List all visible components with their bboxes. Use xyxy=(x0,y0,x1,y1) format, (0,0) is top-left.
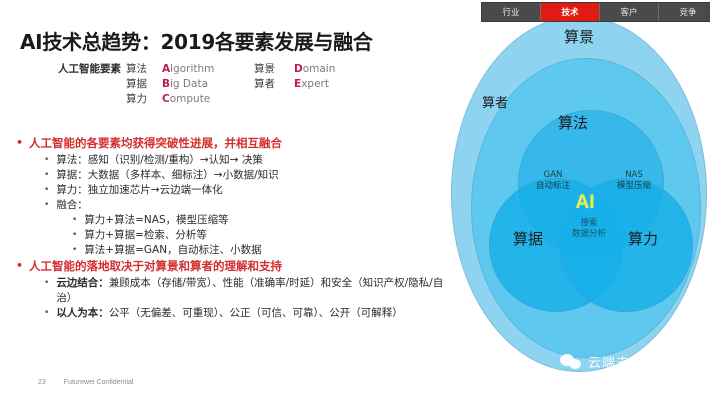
element-en-rest-2: ompute xyxy=(170,93,211,105)
element-en2-0: Domain xyxy=(294,62,374,77)
watermark: 云端未来 xyxy=(560,352,644,371)
bullet-dot-icon: • xyxy=(44,276,49,291)
elements-col-en2: Domain Expert xyxy=(294,62,374,107)
venn-label-power: 算力 xyxy=(628,228,658,249)
bullet-dot-icon: • xyxy=(72,228,77,243)
element-en2-1: Expert xyxy=(294,77,374,92)
element-en2-rest-0: omain xyxy=(303,63,336,75)
bullet-level2-text-1: 算据：大数据（多样本、细标注）→小数据/知识 xyxy=(56,168,278,183)
bullet-level2-text-3: 融合： xyxy=(56,198,88,213)
bullet-dot-icon: • xyxy=(44,198,49,213)
venn-overlap-bottom-line2: 数据分析 xyxy=(560,229,618,240)
elements-col-cn: 算法 算据 算力 xyxy=(126,62,162,107)
element-en-2: Compute xyxy=(162,92,254,107)
bullet-level3-item: • 算力+算法=NAS，模型压缩等 xyxy=(72,213,456,228)
element-en-rest-0: lgorithm xyxy=(170,63,214,75)
left-content-pane: AI技术总趋势：2019各要素发展与融合 人工智能要素 算法 算据 算力 Alg… xyxy=(0,0,460,400)
bullet-dot-icon: • xyxy=(16,135,23,151)
page-number: 23 xyxy=(38,379,46,386)
element-en-cap-1: B xyxy=(162,78,170,90)
venn-overlap-bottom-line1: 搜索 xyxy=(560,218,618,229)
page-title: AI技术总趋势：2019各要素发展与融合 xyxy=(20,26,373,55)
wechat-icon xyxy=(560,354,582,370)
bullet-level2-b-1-label: 以人为本： xyxy=(56,307,109,319)
bullet-dot-icon: • xyxy=(16,258,23,274)
element-en2-rest-1: xpert xyxy=(301,78,329,90)
venn-overlap-bottom: 搜索 数据分析 xyxy=(560,218,618,240)
bullet-level3-text-0: 算力+算法=NAS，模型压缩等 xyxy=(84,213,228,228)
slide-canvas: AI技术总趋势：2019各要素发展与融合 人工智能要素 算法 算据 算力 Alg… xyxy=(0,0,710,400)
venn-overlap-nas: NAS 模型压缩 xyxy=(608,170,660,192)
element-en-cap-2: C xyxy=(162,93,170,105)
watermark-text: 云端未来 xyxy=(588,352,644,371)
bullet-dot-icon: • xyxy=(72,213,77,228)
bullet-level2-item: • 云边结合：兼顾成本（存储/带宽）、性能（准确率/时延）和安全（知识产权/隐私… xyxy=(44,276,456,306)
venn-label-scene: 算景 xyxy=(440,26,710,47)
bullet-level2-b-1-text: 公平（无偏差、可重现）、公正（可信、可靠）、公开（可解释） xyxy=(109,307,403,319)
element-cn2-1: 算者 xyxy=(254,77,294,92)
bullet-dot-icon: • xyxy=(44,183,49,198)
venn-overlap-gan-line1: GAN xyxy=(528,170,578,181)
tab-industry[interactable]: 行业 xyxy=(482,3,541,21)
bullet-list: • 人工智能的各要素均获得突破性进展，并相互融合 • 算法：感知（识别/检测/重… xyxy=(16,135,456,321)
tab-technology[interactable]: 技术 xyxy=(541,3,600,21)
element-cn-2: 算力 xyxy=(126,92,162,107)
bullet-dot-icon: • xyxy=(44,153,49,168)
bullet-level2-item: • 算法：感知（识别/检测/重构）→认知→ 决策 xyxy=(44,153,456,168)
element-en-rest-1: ig Data xyxy=(170,78,208,90)
bullet-level2-b-0: 云边结合：兼顾成本（存储/带宽）、性能（准确率/时延）和安全（知识产权/隐私/自… xyxy=(56,276,446,306)
slide-footer: 23 Futurewei Confidential xyxy=(38,379,133,386)
bullet-level2-item: • 以人为本：公平（无偏差、可重现）、公正（可信、可靠）、公开（可解释） xyxy=(44,306,456,321)
ai-elements-table: 人工智能要素 算法 算据 算力 Algorithm Big Data Compu… xyxy=(58,62,374,107)
bullet-level2-text-2: 算力：独立加速芯片→云边端一体化 xyxy=(56,183,222,198)
element-en2-cap-0: D xyxy=(294,63,303,75)
bullet-level2-b-1: 以人为本：公平（无偏差、可重现）、公正（可信、可靠）、公开（可解释） xyxy=(56,306,403,321)
venn-label-data: 算据 xyxy=(513,228,543,249)
venn-label-expert: 算者 xyxy=(482,92,508,111)
bullet-level3-text-1: 算力+算据=检索、分析等 xyxy=(84,228,207,243)
element-en-1: Big Data xyxy=(162,77,254,92)
venn-overlap-gan-line2: 自动标注 xyxy=(528,181,578,192)
tab-competition[interactable]: 竞争 xyxy=(659,3,710,21)
venn-overlap-gan: GAN 自动标注 xyxy=(528,170,578,192)
venn-diagram-pane: 行业 技术 客户 竞争 未来 算景 算者 算法 算据 算力 GAN 自动标注 N… xyxy=(440,0,710,400)
bullet-level1-second: • 人工智能的落地取决于对算景和算者的理解和支持 xyxy=(16,258,456,275)
element-cn-1: 算据 xyxy=(126,77,162,92)
bullet-level2-text-0: 算法：感知（识别/检测/重构）→认知→ 决策 xyxy=(56,153,263,168)
bullet-level1-first-text: 人工智能的各要素均获得突破性进展，并相互融合 xyxy=(29,135,282,152)
bullet-level2-b-0-text: 兼顾成本（存储/带宽）、性能（准确率/时延）和安全（知识产权/隐私/自治） xyxy=(56,277,443,304)
bullet-level1-first: • 人工智能的各要素均获得突破性进展，并相互融合 xyxy=(16,135,456,152)
elements-col-cn2: 算景 算者 xyxy=(254,62,294,107)
venn-label-algorithm: 算法 xyxy=(558,112,588,133)
confidential-notice: Futurewei Confidential xyxy=(64,379,134,386)
venn-overlap-nas-line2: 模型压缩 xyxy=(608,181,660,192)
venn-overlap-nas-line1: NAS xyxy=(608,170,660,181)
bullet-level2-item: • 算力：独立加速芯片→云边端一体化 xyxy=(44,183,456,198)
bullet-dot-icon: • xyxy=(72,243,77,258)
venn-label-ai: AI xyxy=(546,192,624,214)
nav-tabs[interactable]: 行业 技术 客户 竞争 未来 xyxy=(481,2,710,22)
elements-col-en: Algorithm Big Data Compute xyxy=(162,62,254,107)
element-cn-0: 算法 xyxy=(126,62,162,77)
bullet-level3-text-2: 算法+算据=GAN，自动标注、小数据 xyxy=(84,243,261,258)
bullet-dot-icon: • xyxy=(44,168,49,183)
bullet-level2-item: • 融合： xyxy=(44,198,456,213)
element-cn2-0: 算景 xyxy=(254,62,294,77)
tab-customer[interactable]: 客户 xyxy=(600,3,659,21)
bullet-level2-b-0-label: 云边结合： xyxy=(56,277,109,289)
element-en-cap-0: A xyxy=(162,63,170,75)
bullet-level3-item: • 算法+算据=GAN，自动标注、小数据 xyxy=(72,243,456,258)
bullet-level1-second-text: 人工智能的落地取决于对算景和算者的理解和支持 xyxy=(29,258,282,275)
bullet-level3-item: • 算力+算据=检索、分析等 xyxy=(72,228,456,243)
bullet-level2-item: • 算据：大数据（多样本、细标注）→小数据/知识 xyxy=(44,168,456,183)
bullet-dot-icon: • xyxy=(44,306,49,321)
elements-heading: 人工智能要素 xyxy=(58,62,126,107)
element-en-0: Algorithm xyxy=(162,62,254,77)
